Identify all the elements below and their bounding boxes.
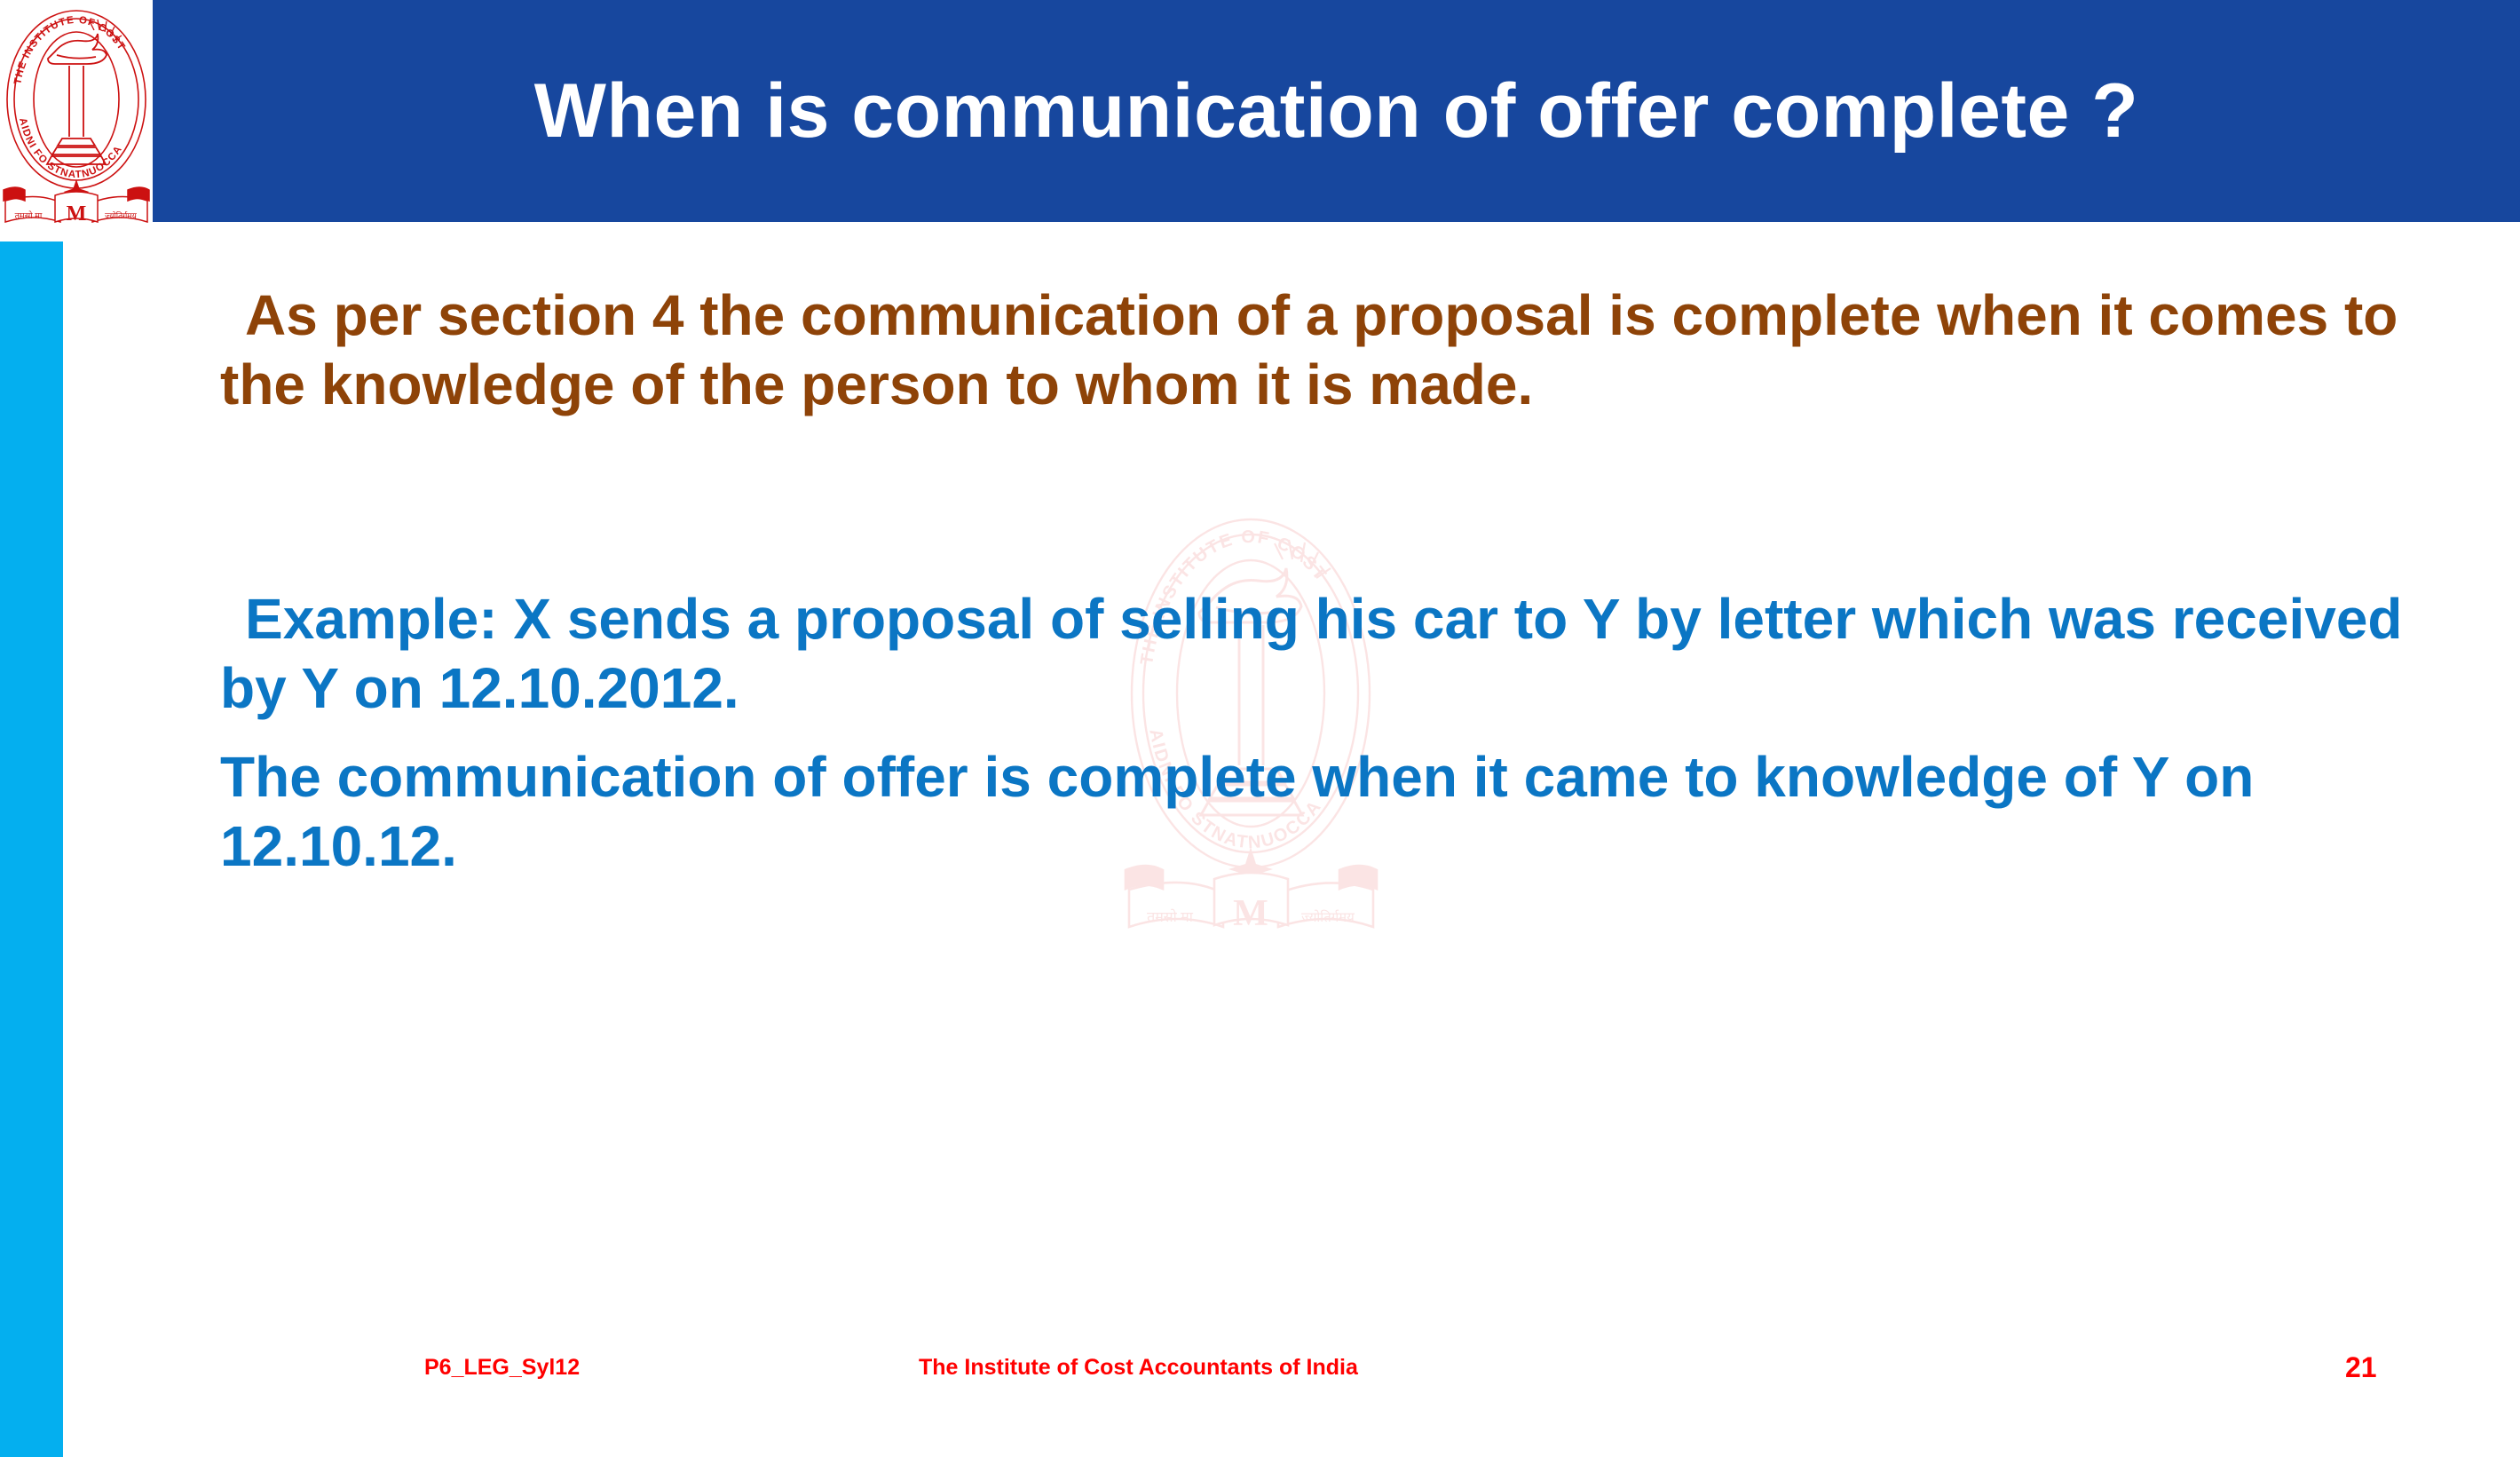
svg-text:ज्योतिर्गमय: ज्योतिर्गमय [105,210,138,220]
slide-body: As per section 4 the communication of a … [220,281,2439,1293]
slide-footer: P6_LEG_Syl12 The Institute of Cost Accou… [0,1355,2520,1408]
svg-text:M: M [67,202,87,226]
slide-canvas: When is communication of offer complete … [0,0,2520,1457]
content-spacer [220,419,2439,584]
paragraph-conclusion: The communication of offer is complete w… [220,742,2439,881]
left-accent-bar [0,242,63,1457]
footer-institute-name: The Institute of Cost Accountants of Ind… [919,1355,1358,1381]
paragraph-spacer [220,723,2439,742]
institute-logo: THE INSTITUTE OF COST AIDNI FO STNATNUOC… [0,0,153,233]
footer-page-number: 21 [2345,1351,2377,1384]
svg-text:AIDNI FO STNATNUOCCA: AIDNI FO STNATNUOCCA [17,117,124,181]
footer-subject-code: P6_LEG_Syl12 [424,1355,580,1381]
svg-text:तमसो मा: तमसो मा [15,210,43,221]
paragraph-example: Example: X sends a proposal of selling h… [220,584,2439,723]
page-title: When is communication of offer complete … [153,0,2520,222]
paragraph-definition: As per section 4 the communication of a … [220,281,2439,419]
